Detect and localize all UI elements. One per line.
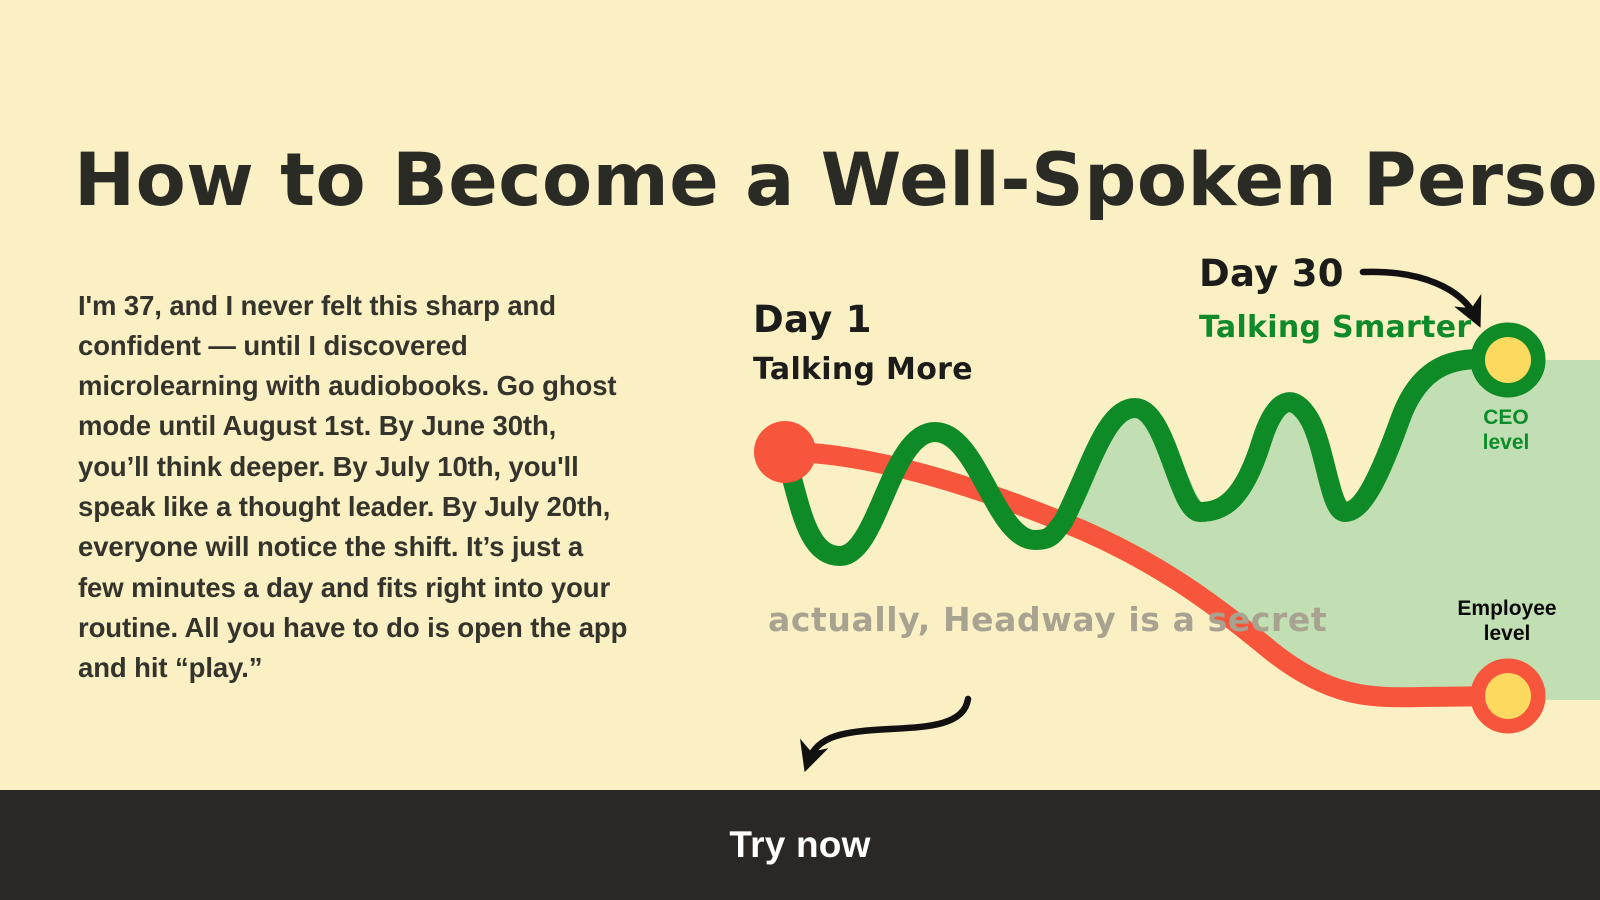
- day1-title: Day 1: [753, 298, 872, 341]
- try-now-label: Try now: [729, 824, 870, 866]
- day30-subtitle: Talking Smarter: [1199, 310, 1472, 345]
- ceo-level-label: CEO level: [1452, 406, 1560, 456]
- day30-title: Day 30: [1199, 252, 1344, 295]
- ceo-dot-center: [1485, 337, 1531, 383]
- ad-creative: How to Become a Well-Spoken Person I'm 3…: [0, 0, 1600, 900]
- secret-note: actually, Headway is a secret: [768, 593, 1327, 646]
- employee-level-label: Employee level: [1432, 597, 1582, 647]
- secret-note-arrow-icon: [808, 699, 968, 762]
- start-dot-marker: [754, 421, 816, 483]
- growth-chart: [0, 0, 1600, 900]
- try-now-button[interactable]: Try now: [0, 790, 1600, 900]
- day1-subtitle: Talking More: [753, 352, 973, 387]
- employee-dot-center: [1485, 673, 1531, 719]
